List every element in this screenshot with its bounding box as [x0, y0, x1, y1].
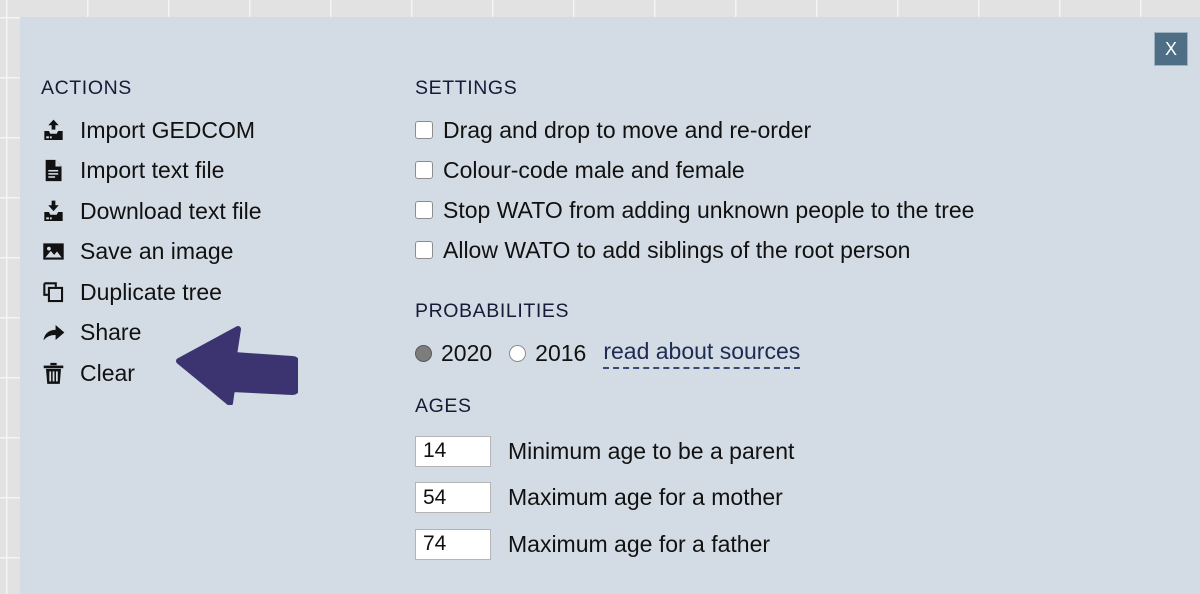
action-duplicate-tree[interactable]: Duplicate tree — [41, 272, 415, 313]
setting-label: Stop WATO from adding unknown people to … — [443, 197, 974, 224]
age-label: Maximum age for a father — [508, 531, 770, 558]
action-label: Save an image — [80, 238, 233, 265]
radio-option-2020[interactable]: 2020 — [415, 340, 492, 367]
probabilities-row: 2020 2016 read about sources — [415, 333, 1200, 373]
close-icon[interactable]: X — [1154, 32, 1188, 66]
radio-label: 2020 — [441, 340, 492, 367]
setting-colour-code[interactable]: Colour-code male and female — [415, 150, 1200, 190]
setting-label: Allow WATO to add siblings of the root p… — [443, 237, 910, 264]
action-share[interactable]: Share — [41, 313, 415, 354]
action-clear[interactable]: Clear — [41, 353, 415, 394]
settings-column: SETTINGS Drag and drop to move and re-or… — [415, 77, 1200, 568]
setting-label: Colour-code male and female — [443, 157, 745, 184]
age-row-maximum-father: Maximum age for a father — [415, 521, 1200, 568]
checkbox-icon[interactable] — [415, 161, 433, 179]
actions-column: ACTIONS Import GEDCOM — [20, 77, 415, 568]
setting-drag-and-drop[interactable]: Drag and drop to move and re-order — [415, 110, 1200, 150]
download-icon — [41, 199, 66, 224]
age-row-minimum-parent: Minimum age to be a parent — [415, 428, 1200, 475]
trash-icon — [41, 361, 66, 386]
action-import-text-file[interactable]: Import text file — [41, 151, 415, 192]
action-label: Share — [80, 319, 141, 346]
action-import-gedcom[interactable]: Import GEDCOM — [41, 110, 415, 151]
ages-list: Minimum age to be a parent Maximum age f… — [415, 428, 1200, 568]
settings-panel: X ACTIONS Import GEDCOM — [20, 17, 1200, 594]
copy-icon — [41, 280, 66, 305]
action-label: Download text file — [80, 198, 262, 225]
age-label: Minimum age to be a parent — [508, 438, 794, 465]
settings-heading: SETTINGS — [415, 77, 1200, 100]
document-icon — [41, 158, 66, 183]
image-icon — [41, 239, 66, 264]
checkbox-icon[interactable] — [415, 121, 433, 139]
radio-option-2016[interactable]: 2016 — [509, 340, 586, 367]
maximum-father-age-input[interactable] — [415, 529, 491, 560]
upload-icon — [41, 118, 66, 143]
minimum-parent-age-input[interactable] — [415, 436, 491, 467]
action-label: Clear — [80, 360, 135, 387]
checkbox-icon[interactable] — [415, 201, 433, 219]
probabilities-heading: PROBABILITIES — [415, 300, 1200, 323]
share-icon — [41, 320, 66, 345]
actions-heading: ACTIONS — [41, 77, 415, 100]
age-row-maximum-mother: Maximum age for a mother — [415, 475, 1200, 522]
action-label: Duplicate tree — [80, 279, 222, 306]
action-save-an-image[interactable]: Save an image — [41, 232, 415, 273]
panel-columns: ACTIONS Import GEDCOM — [20, 17, 1200, 568]
age-label: Maximum age for a mother — [508, 484, 783, 511]
actions-list: Import GEDCOM Import text file — [41, 110, 415, 394]
action-label: Import GEDCOM — [80, 117, 255, 144]
radio-icon[interactable] — [415, 345, 432, 362]
action-download-text-file[interactable]: Download text file — [41, 191, 415, 232]
maximum-mother-age-input[interactable] — [415, 482, 491, 513]
read-about-sources-link[interactable]: read about sources — [603, 338, 800, 369]
settings-list: Drag and drop to move and re-order Colou… — [415, 110, 1200, 270]
action-label: Import text file — [80, 157, 224, 184]
radio-label: 2016 — [535, 340, 586, 367]
setting-label: Drag and drop to move and re-order — [443, 117, 811, 144]
checkbox-icon[interactable] — [415, 241, 433, 259]
ages-heading: AGES — [415, 395, 1200, 418]
setting-allow-siblings[interactable]: Allow WATO to add siblings of the root p… — [415, 230, 1200, 270]
radio-icon[interactable] — [509, 345, 526, 362]
setting-stop-unknown-people[interactable]: Stop WATO from adding unknown people to … — [415, 190, 1200, 230]
